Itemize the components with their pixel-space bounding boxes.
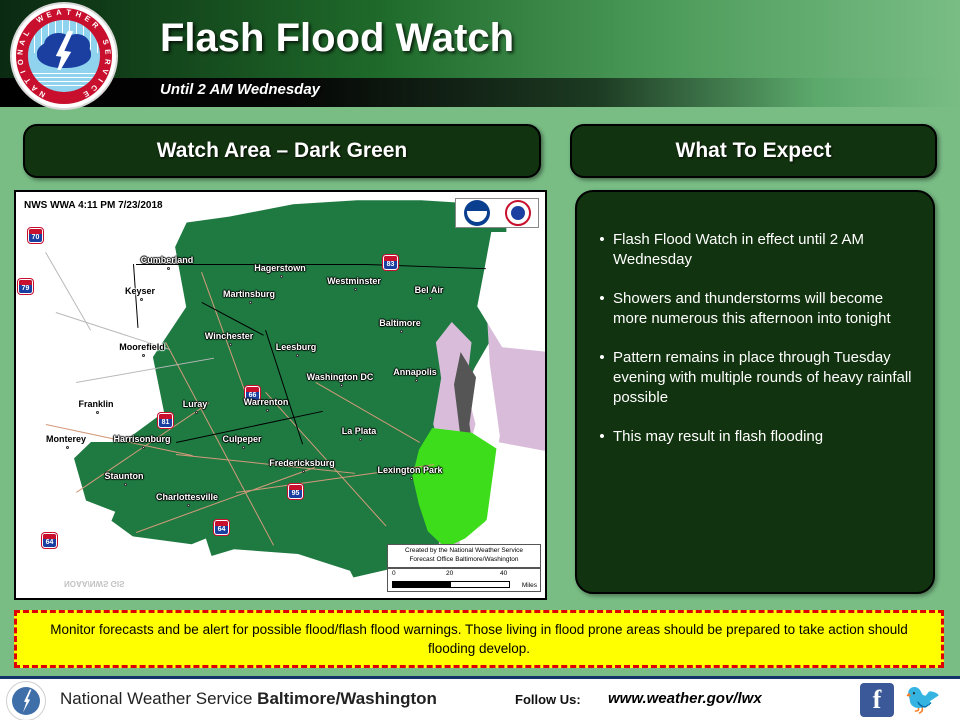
map-city-dot <box>142 354 145 357</box>
map-credit-line-2: Forecast Office Baltimore/Washington <box>389 556 539 565</box>
map-interstate-shield-83: 83 <box>383 255 398 270</box>
map-city-dot <box>415 379 418 382</box>
map-city-label: La Plata <box>342 426 377 436</box>
map-city-dot <box>66 446 69 449</box>
footer-website-link[interactable]: www.weather.gov/lwx <box>608 690 762 707</box>
facebook-icon[interactable]: f <box>860 683 894 717</box>
section-header-what-to-expect-label: What To Expect <box>676 139 832 163</box>
map-credit: Created by the National Weather Service … <box>387 544 541 568</box>
section-header-watch-area: Watch Area – Dark Green <box>23 124 541 178</box>
map-city-label: Fredericksburg <box>269 458 335 468</box>
bullet-text: Showers and thunderstorms will become mo… <box>613 289 917 329</box>
bullet-text: Pattern remains in place through Tuesday… <box>613 348 917 408</box>
what-to-expect-bullet: •Showers and thunderstorms will become m… <box>591 289 917 329</box>
map-scale-units: Miles <box>522 582 537 589</box>
map-city-dot <box>340 384 343 387</box>
map-city-label: Baltimore <box>379 318 421 328</box>
section-header-watch-area-label: Watch Area – Dark Green <box>157 139 408 163</box>
map-scale-ticks: 0 20 40 <box>388 569 540 579</box>
map-city-label: Winchester <box>205 331 253 341</box>
what-to-expect-bullet: •This may result in flash flooding <box>591 427 917 447</box>
subheader-banner <box>0 78 960 107</box>
map-city-label: Monterey <box>46 434 86 444</box>
map-interstate-shield-81: 81 <box>158 413 173 428</box>
map-city-dot <box>266 409 269 412</box>
map-interstate-shield-64: 64 <box>42 533 57 548</box>
map-scale-tick-40: 40 <box>500 570 507 577</box>
map-city-dot <box>249 301 252 304</box>
seal-ring-text: NATIONAL WEATHER SERVICE <box>10 2 118 110</box>
map-city-dot <box>229 343 232 346</box>
footer-follow-us-label: Follow Us: <box>515 692 581 707</box>
bullet-marker-icon: • <box>591 427 613 447</box>
what-to-expect-bullet: •Pattern remains in place through Tuesda… <box>591 348 917 408</box>
what-to-expect-bullet: •Flash Flood Watch in effect until 2 AM … <box>591 230 917 270</box>
map-city-dot <box>195 411 198 414</box>
map-city-label: Lexington Park <box>377 465 442 475</box>
map-city-label: Martinsburg <box>223 289 275 299</box>
footer-agency-name: National Weather Service Baltimore/Washi… <box>60 689 437 709</box>
section-header-what-to-expect: What To Expect <box>570 124 937 178</box>
map-city-dot <box>96 411 99 414</box>
map-city-dot <box>354 288 357 291</box>
map-scale-bar-graphic <box>392 581 510 588</box>
map-interstate-shield-64: 64 <box>214 520 229 535</box>
map-city-label: Harrisonburg <box>113 434 170 444</box>
what-to-expect-list: •Flash Flood Watch in effect until 2 AM … <box>591 230 917 447</box>
bullet-marker-icon: • <box>591 348 613 408</box>
map-city-dot <box>242 446 245 449</box>
map-interstate-shield-95: 95 <box>288 484 303 499</box>
map-city-dot <box>410 477 413 480</box>
map-city-label: Cumberland <box>141 255 194 265</box>
nws-logo-icon <box>505 200 531 226</box>
map-scale-tick-0: 0 <box>392 570 396 577</box>
watch-area-map[interactable]: NWS WWA 4:11 PM 7/23/2018 70797683668195… <box>14 190 547 600</box>
map-credit-line-1: Created by the National Weather Service <box>389 547 539 556</box>
map-city-dot <box>280 275 283 278</box>
bullet-text: This may result in flash flooding <box>613 427 917 447</box>
map-city-label: Hagerstown <box>254 263 306 273</box>
page-title: Flash Flood Watch <box>160 16 514 61</box>
nws-seal-icon: NATIONAL WEATHER SERVICE <box>10 2 118 110</box>
map-city-label: Bel Air <box>415 285 444 295</box>
map-city-dot <box>142 446 145 449</box>
map-city-dot <box>124 483 127 486</box>
map-scale-bar: 0 20 40 Miles <box>387 568 541 592</box>
map-city-dot <box>140 298 143 301</box>
map-city-label: Moorefield <box>119 342 165 352</box>
map-city-dot <box>296 354 299 357</box>
map-city-label: Warrenton <box>244 397 289 407</box>
map-city-dot <box>187 504 190 507</box>
call-to-action-text: Monitor forecasts and be alert for possi… <box>17 613 941 665</box>
map-timestamp: NWS WWA 4:11 PM 7/23/2018 <box>24 200 163 211</box>
map-city-label: Leesburg <box>276 342 317 352</box>
map-city-label: Culpeper <box>222 434 261 444</box>
footer-agency-text: National Weather Service <box>60 689 257 708</box>
map-city-label: Charlottesville <box>156 492 218 502</box>
bullet-marker-icon: • <box>591 289 613 329</box>
nws-footer-logo-icon <box>6 681 46 720</box>
map-city-label: Washington DC <box>307 372 374 382</box>
map-city-dot <box>400 330 403 333</box>
map-interstate-shield-79: 79 <box>18 279 33 294</box>
noaa-logo-icon <box>464 200 490 226</box>
map-city-label: Franklin <box>78 399 113 409</box>
footer-office-text: Baltimore/Washington <box>257 689 437 708</box>
map-city-label: Luray <box>183 399 208 409</box>
map-scale-tick-20: 20 <box>446 570 453 577</box>
map-city-dot <box>302 470 305 473</box>
map-city-dot <box>429 297 432 300</box>
footer-bar: National Weather Service Baltimore/Washi… <box>0 676 960 720</box>
map-city-dot <box>359 438 362 441</box>
map-city-dot <box>167 267 170 270</box>
bullet-marker-icon: • <box>591 230 613 270</box>
page-subtitle: Until 2 AM Wednesday <box>160 81 320 98</box>
bullet-text: Flash Flood Watch in effect until 2 AM W… <box>613 230 917 270</box>
twitter-icon[interactable]: 🐦 <box>904 685 938 715</box>
map-interstate-shield-70: 70 <box>28 228 43 243</box>
map-city-label: Westminster <box>327 276 381 286</box>
map-canvas: NWS WWA 4:11 PM 7/23/2018 70797683668195… <box>16 192 545 598</box>
map-city-label: Keyser <box>125 286 155 296</box>
map-logo-box <box>455 198 539 228</box>
what-to-expect-panel: •Flash Flood Watch in effect until 2 AM … <box>575 190 935 594</box>
call-to-action-box: Monitor forecasts and be alert for possi… <box>14 610 944 668</box>
map-city-label: Annapolis <box>393 367 437 377</box>
map-watermark: NOAA/NWS GIS <box>64 579 124 588</box>
map-city-label: Staunton <box>105 471 144 481</box>
